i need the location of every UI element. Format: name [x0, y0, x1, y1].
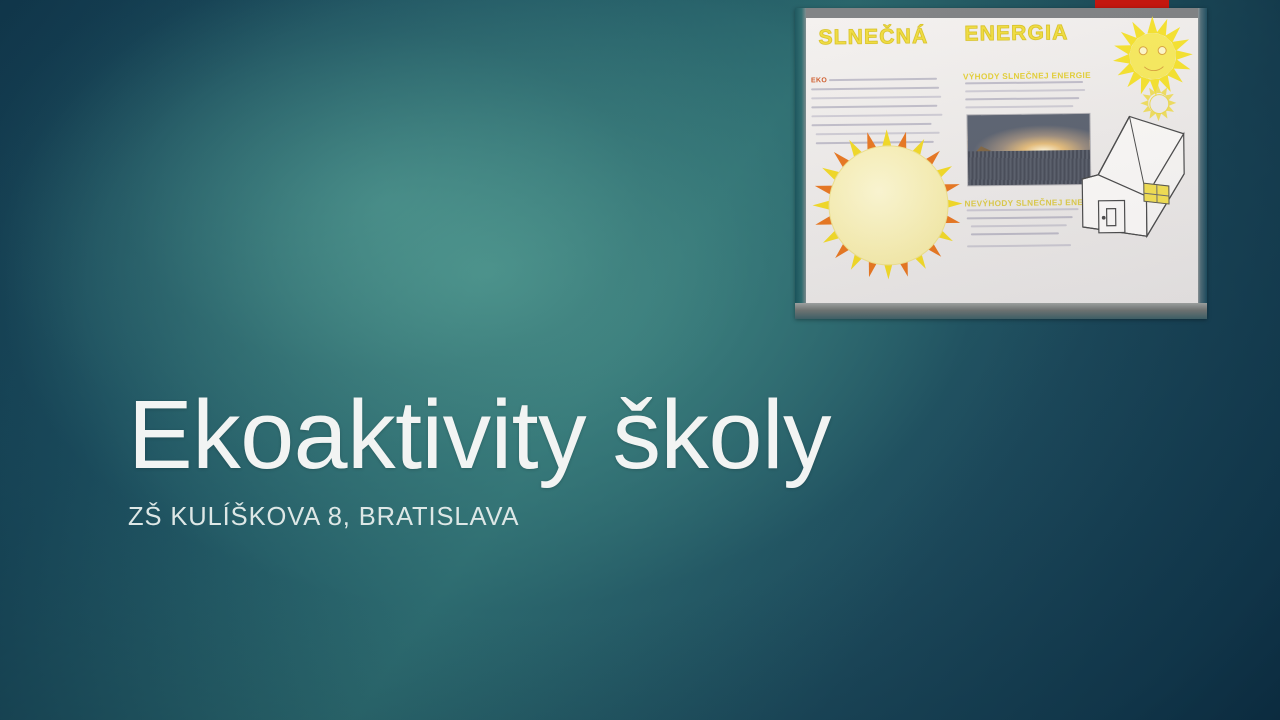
eye-left	[1139, 46, 1148, 55]
handwriting-line	[971, 224, 1067, 227]
poster-intro-label: EKO	[811, 77, 827, 84]
handwriting-line	[811, 114, 942, 117]
handwriting-line	[971, 232, 1059, 235]
page-title: Ekoaktivity školy	[128, 386, 1028, 485]
drawn-sun-icon	[812, 128, 964, 280]
mouth	[1140, 55, 1168, 71]
poster-heading-energia: ENERGIA	[964, 21, 1068, 46]
handwriting-line	[965, 105, 1073, 108]
eye-right	[1158, 46, 1167, 55]
handwriting-line	[965, 89, 1085, 92]
house-solar-window	[1143, 183, 1169, 205]
drawn-house-icon	[1067, 100, 1193, 240]
page-subtitle: ZŠ KULÍŠKOVA 8, BRATISLAVA	[128, 503, 1028, 532]
handwriting-line	[965, 97, 1079, 100]
smiley-sun-icon	[1114, 18, 1191, 95]
poster-photo[interactable]: SLNEČNÁ ENERGIA EKO	[795, 8, 1207, 319]
handwriting-line	[811, 96, 941, 99]
handwriting-line	[829, 78, 937, 81]
poster-paper: SLNEČNÁ ENERGIA EKO	[806, 18, 1198, 303]
handwriting-line	[967, 216, 1073, 219]
presentation-slide: SLNEČNÁ ENERGIA EKO	[0, 0, 1280, 720]
handwriting-line	[967, 244, 1071, 247]
poster-heading-slnecna: SLNEČNÁ	[818, 25, 928, 50]
handwriting-line	[812, 123, 932, 126]
poster-edge-bottom	[795, 303, 1207, 319]
handwriting-line	[811, 105, 937, 108]
poster-subheading-advantages: VÝHODY SLNEČNEJ ENERGIE	[963, 70, 1091, 82]
handwriting-line	[965, 81, 1083, 84]
title-block: Ekoaktivity školy ZŠ KULÍŠKOVA 8, BRATIS…	[128, 386, 1028, 532]
handwriting-line	[967, 208, 1079, 211]
handwriting-line	[811, 87, 939, 90]
